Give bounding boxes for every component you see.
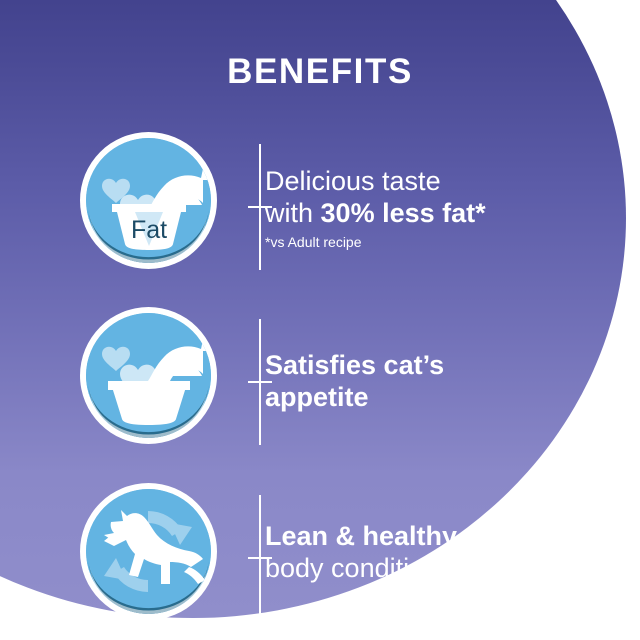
leaping-cat-cycle-icon <box>80 483 217 620</box>
benefit-row-1: Fat Delicious taste with 30% less fat* *… <box>0 132 640 282</box>
cat-eating-bowl-icon <box>80 307 217 444</box>
benefit-line-2-bold: 30% less fat* <box>321 198 486 228</box>
page-title: BENEFITS <box>0 52 640 92</box>
benefit-line-1: Satisfies cat’s <box>265 349 595 381</box>
benefit-line-1: Delicious taste <box>265 165 595 197</box>
benefit-line-1: Lean & healthy <box>265 520 595 552</box>
benefit-text-2: Satisfies cat’s appetite <box>265 349 595 413</box>
panel-content: BENEFITS <box>0 0 640 640</box>
benefit-footnote: *vs Adult recipe <box>265 232 595 252</box>
benefit-line-2: body condition <box>265 552 595 584</box>
icon-fat-label: Fat <box>131 216 167 244</box>
benefit-line-2-prefix: with <box>265 198 321 228</box>
benefits-panel: BENEFITS <box>0 0 640 640</box>
benefit-text-1: Delicious taste with 30% less fat* *vs A… <box>265 165 595 252</box>
benefit-row-3: Lean & healthy body condition <box>0 483 640 633</box>
benefit-line-2: appetite <box>265 381 595 413</box>
cat-eating-bowl-fat-icon: Fat <box>80 132 217 269</box>
benefit-text-3: Lean & healthy body condition <box>265 520 595 584</box>
benefit-line-2: with 30% less fat* <box>265 197 595 229</box>
benefit-row-2: Satisfies cat’s appetite <box>0 307 640 457</box>
